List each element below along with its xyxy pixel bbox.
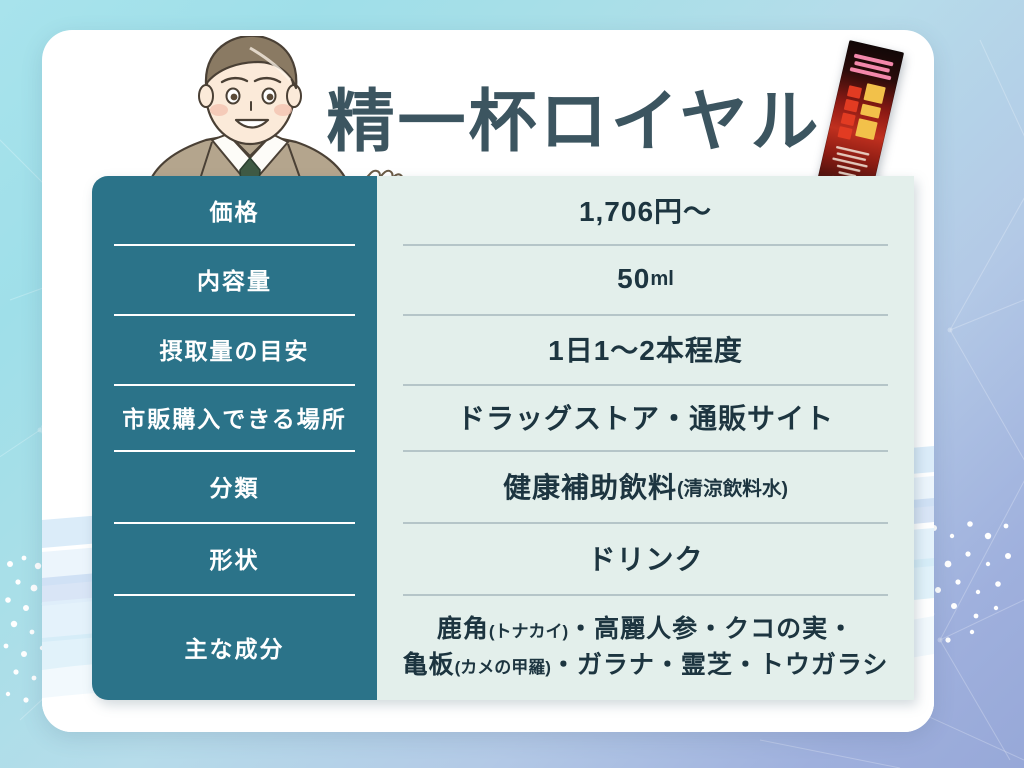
volume-number: 50 — [617, 263, 650, 295]
price-text: 1,706円〜 — [579, 190, 712, 230]
where-buy-text: ドラッグストア・通販サイト — [457, 397, 834, 437]
ingredients-line-1: 鹿角(トナカイ)・高麗人参・クコの実・ — [403, 611, 889, 647]
category-text: 健康補助飲料 — [503, 466, 677, 506]
spec-table: 価格 内容量 摂取量の目安 市販購入できる場所 分類 形状 主な成分 1,706… — [92, 176, 914, 700]
spec-label-dosage: 摂取量の目安 — [92, 314, 377, 384]
page-title: 精一杯ロイヤル — [304, 88, 844, 156]
ingredient-deer-antler: 鹿角 — [437, 615, 489, 643]
spec-value-column: 1,706円〜 50ml 1日1〜2本程度 ドラッグストア・通販サイト 健康補助… — [377, 176, 914, 700]
ingredients-line-2: 亀板(カメの甲羅)・ガラナ・霊芝・トウガラシ — [403, 647, 889, 683]
spec-label-ingredients: 主な成分 — [92, 594, 377, 700]
spec-value-ingredients: 鹿角(トナカイ)・高麗人参・クコの実・ 亀板(カメの甲羅)・ガラナ・霊芝・トウガ… — [377, 594, 914, 700]
spec-value-form: ドリンク — [377, 522, 914, 594]
spec-label-volume: 内容量 — [92, 244, 377, 314]
ingredient-turtle-shell-note: (カメの甲羅) — [455, 658, 551, 677]
dosage-text: 1日1〜2本程度 — [548, 329, 743, 369]
spec-value-category: 健康補助飲料(清涼飲料水) — [377, 450, 914, 522]
spec-value-where-buy: ドラッグストア・通販サイト — [377, 384, 914, 450]
spec-label-column: 価格 内容量 摂取量の目安 市販購入できる場所 分類 形状 主な成分 — [92, 176, 377, 700]
spec-value-volume: 50ml — [377, 244, 914, 314]
spec-label-where-buy: 市販購入できる場所 — [92, 384, 377, 450]
spec-label-price: 価格 — [92, 176, 377, 244]
page-root: 精一杯ロイヤル — [0, 0, 1024, 768]
volume-unit: ml — [650, 268, 674, 291]
ingredient-turtle-shell: 亀板 — [403, 651, 455, 679]
spec-label-form: 形状 — [92, 522, 377, 594]
form-text: ドリンク — [587, 538, 703, 578]
ingredients-line-1-rest: ・高麗人参・クコの実・ — [568, 615, 854, 643]
category-note: (清涼飲料水) — [677, 472, 788, 501]
ingredients-line-2-rest: ・ガラナ・霊芝・トウガラシ — [551, 651, 889, 679]
ingredient-deer-antler-note: (トナカイ) — [489, 622, 568, 641]
spec-value-price: 1,706円〜 — [377, 176, 914, 244]
spec-value-dosage: 1日1〜2本程度 — [377, 314, 914, 384]
spec-label-category: 分類 — [92, 450, 377, 522]
content-card: 精一杯ロイヤル — [42, 30, 934, 732]
